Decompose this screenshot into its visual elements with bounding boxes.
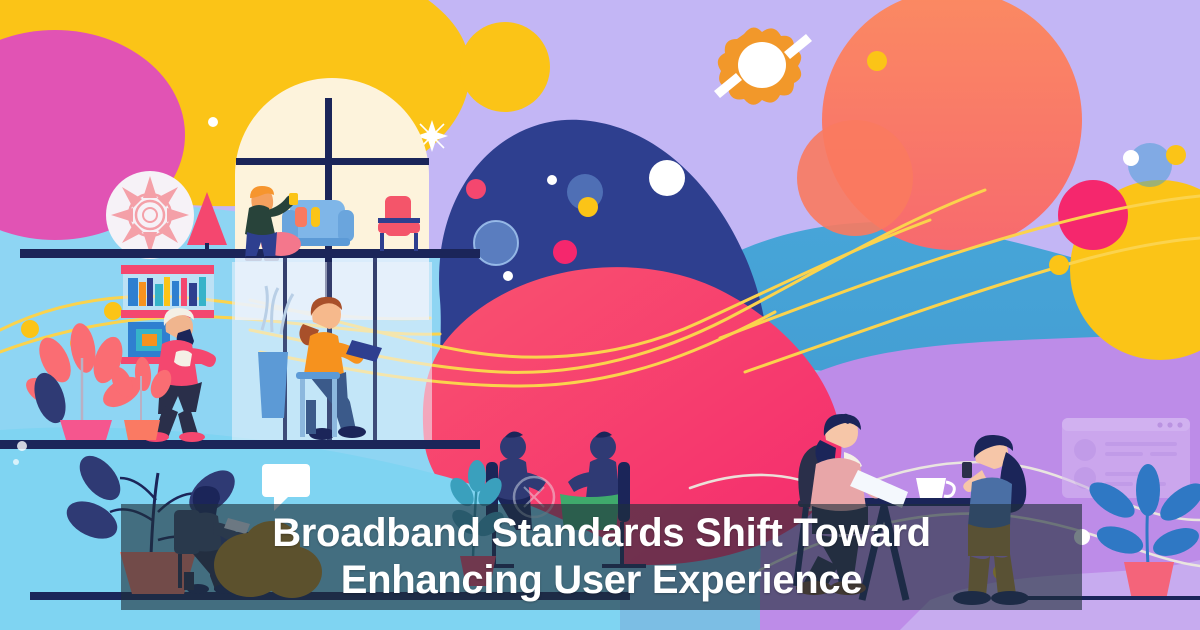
coral-circle-right [797, 120, 913, 236]
navy-decor-dot-pink [553, 240, 577, 264]
yellow-circle-small [460, 22, 550, 112]
navy-decor-dot-white2 [503, 271, 513, 281]
page-title-line-2: Enhancing User Experience [341, 557, 863, 604]
floor-slab-middle [160, 440, 480, 449]
title-overlay-bar: Broadband Standards Shift Toward Enhanci… [121, 504, 1082, 610]
banner-image: Broadband Standards Shift Toward Enhanci… [0, 0, 1200, 630]
white-dot-small [208, 117, 218, 127]
browser-card-mockup [1062, 418, 1190, 498]
white-dot-large [649, 160, 685, 196]
page-title-line-1: Broadband Standards Shift Toward [272, 510, 931, 557]
navy-decor-dot-white1 [547, 175, 557, 185]
wall-clock-sun-decoration [106, 171, 194, 259]
dot-decor-2 [13, 459, 19, 465]
dot-decor-1 [17, 441, 27, 451]
